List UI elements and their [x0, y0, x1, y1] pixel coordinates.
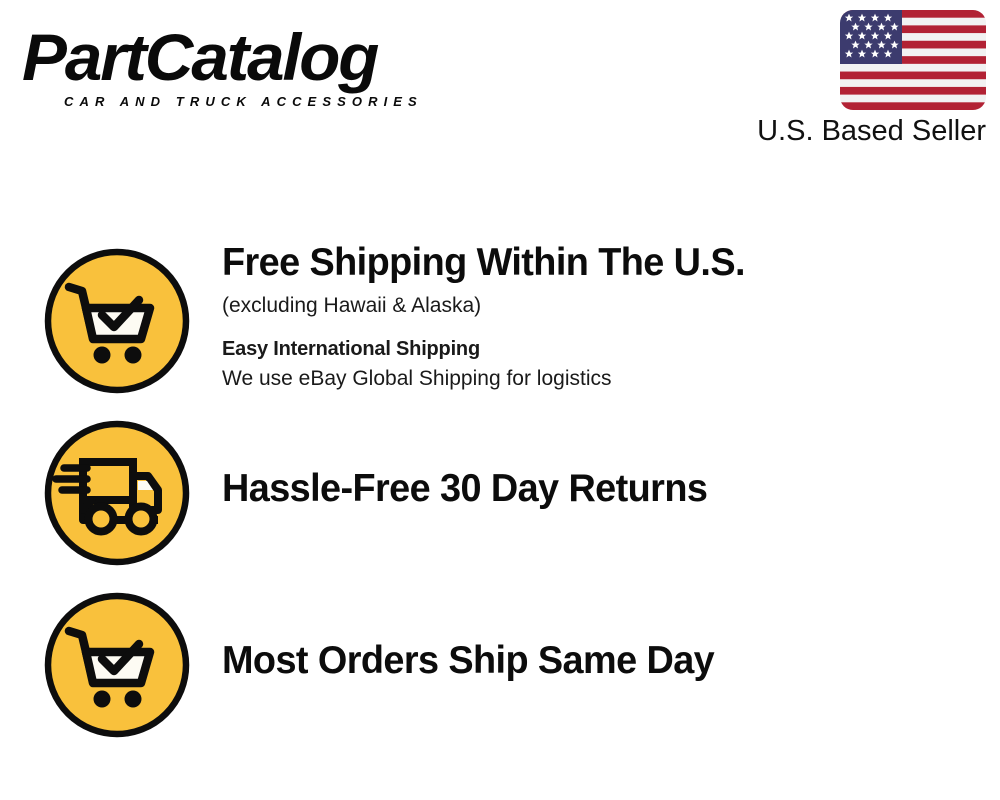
brand-logo[interactable]: PartCatalog CAR AND TRUCK ACCESSORIES: [22, 22, 492, 122]
shopping-cart-check-icon: [42, 246, 192, 396]
feature-row: Free Shipping Within The U.S. (excluding…: [0, 246, 1000, 398]
feature-heading: Free Shipping Within The U.S.: [222, 240, 959, 286]
feature-text-block: Hassle-Free 30 Day Returns: [222, 466, 982, 512]
delivery-truck-icon: [42, 418, 192, 568]
feature-heading: Most Orders Ship Same Day: [222, 638, 959, 684]
brand-wordmark: PartCatalog: [22, 22, 501, 92]
brand-tagline: CAR AND TRUCK ACCESSORIES: [64, 94, 492, 109]
us-based-seller-badge: U.S. Based Seller: [840, 10, 986, 110]
feature-subtext: (excluding Hawaii & Alaska): [222, 291, 982, 321]
feature-heading: Hassle-Free 30 Day Returns: [222, 466, 959, 512]
feature-text-block: Free Shipping Within The U.S. (excluding…: [222, 240, 982, 394]
shopping-cart-check-icon: [42, 590, 192, 740]
feature-row: Most Orders Ship Same Day: [0, 590, 1000, 742]
feature-row: Hassle-Free 30 Day Returns: [0, 418, 1000, 570]
feature-text-block: Most Orders Ship Same Day: [222, 638, 982, 684]
feature-subtext-strong: Easy International Shipping: [222, 334, 982, 364]
us-based-seller-label: U.S. Based Seller: [757, 114, 986, 148]
us-flag-icon: [840, 10, 986, 110]
feature-subtext: We use eBay Global Shipping for logistic…: [222, 364, 982, 394]
